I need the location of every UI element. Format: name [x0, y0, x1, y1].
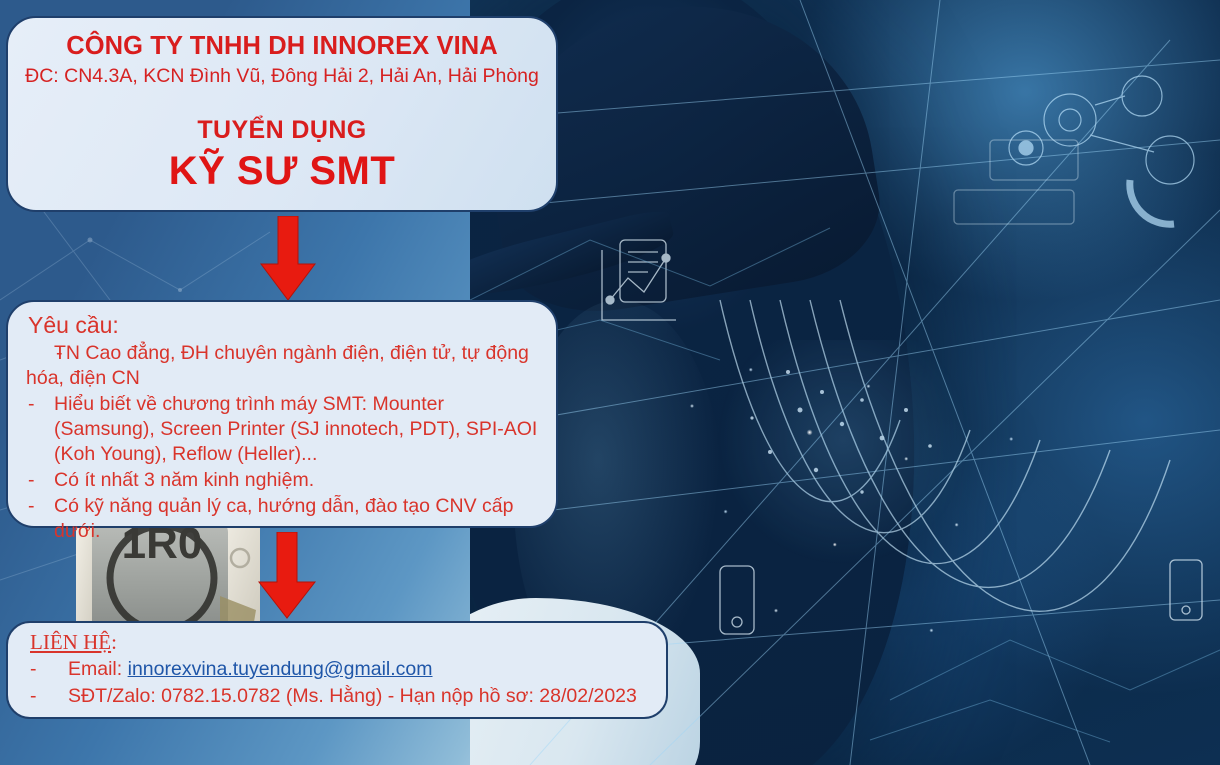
particle-burst	[650, 340, 1070, 670]
recruitment-poster: 1R0 CÔNG TY TNHH DH INNOREX VINA ĐC: CN4…	[0, 0, 1220, 765]
contact-email-row: - Email: innorexvina.tuyendung@gmail.com	[30, 656, 666, 682]
bullet-dash: -	[30, 656, 37, 682]
requirement-text: Có kỹ năng quản lý ca, hướng dẫn, đào tạ…	[54, 495, 513, 542]
requirement-text: Có ít nhất 3 năm kinh nghiệm.	[54, 469, 314, 491]
requirements-card: Yêu cầu: - TN Cao đẳng, ĐH chuyên ngành …	[6, 300, 558, 528]
requirement-text: TN Cao đẳng, ĐH chuyên ngành điện, điện …	[26, 342, 529, 389]
phone-deadline-text: SĐT/Zalo: 0782.15.0782 (Ms. Hằng) - Hạn …	[68, 683, 637, 709]
requirement-text: Hiểu biết về chương trình máy SMT: Mount…	[54, 393, 537, 465]
bullet-dash: -	[30, 683, 37, 709]
email-link[interactable]: innorexvina.tuyendung@gmail.com	[128, 658, 433, 680]
job-title: KỸ SƯ SMT	[8, 149, 556, 194]
bullet-dash: -	[28, 341, 63, 366]
recruiting-label: TUYỂN DỤNG	[8, 116, 556, 145]
requirement-item: - Có kỹ năng quản lý ca, hướng dẫn, đào …	[26, 494, 542, 544]
contact-phone-row: - SĐT/Zalo: 0782.15.0782 (Ms. Hằng) - Hạ…	[30, 683, 666, 709]
requirements-heading: Yêu cầu:	[28, 312, 556, 339]
contact-card: LIÊN HỆ: - Email: innorexvina.tuyendung@…	[6, 621, 668, 719]
requirement-item: - Hiểu biết về chương trình máy SMT: Mou…	[26, 392, 542, 467]
contact-heading-colon: :	[111, 630, 117, 654]
requirement-item: - TN Cao đẳng, ĐH chuyên ngành điện, điệ…	[26, 341, 542, 391]
contact-heading: LIÊN HỆ:	[30, 630, 666, 655]
company-address: ĐC: CN4.3A, KCN Đình Vũ, Đông Hải 2, Hải…	[8, 65, 556, 88]
bullet-dash: -	[28, 468, 35, 493]
bullet-dash: -	[28, 392, 35, 417]
requirements-list: - TN Cao đẳng, ĐH chuyên ngành điện, điệ…	[8, 341, 556, 544]
down-arrow-icon-1	[258, 216, 318, 302]
email-line: Email: innorexvina.tuyendung@gmail.com	[68, 656, 433, 682]
requirement-item: - Có ít nhất 3 năm kinh nghiệm.	[26, 468, 542, 493]
down-arrow-icon-2	[256, 532, 318, 620]
company-header-card: CÔNG TY TNHH DH INNOREX VINA ĐC: CN4.3A,…	[6, 16, 558, 212]
company-name: CÔNG TY TNHH DH INNOREX VINA	[8, 32, 556, 61]
bullet-dash: -	[28, 494, 35, 519]
email-label: Email:	[68, 658, 122, 680]
contact-heading-label: LIÊN HỆ	[30, 630, 111, 654]
